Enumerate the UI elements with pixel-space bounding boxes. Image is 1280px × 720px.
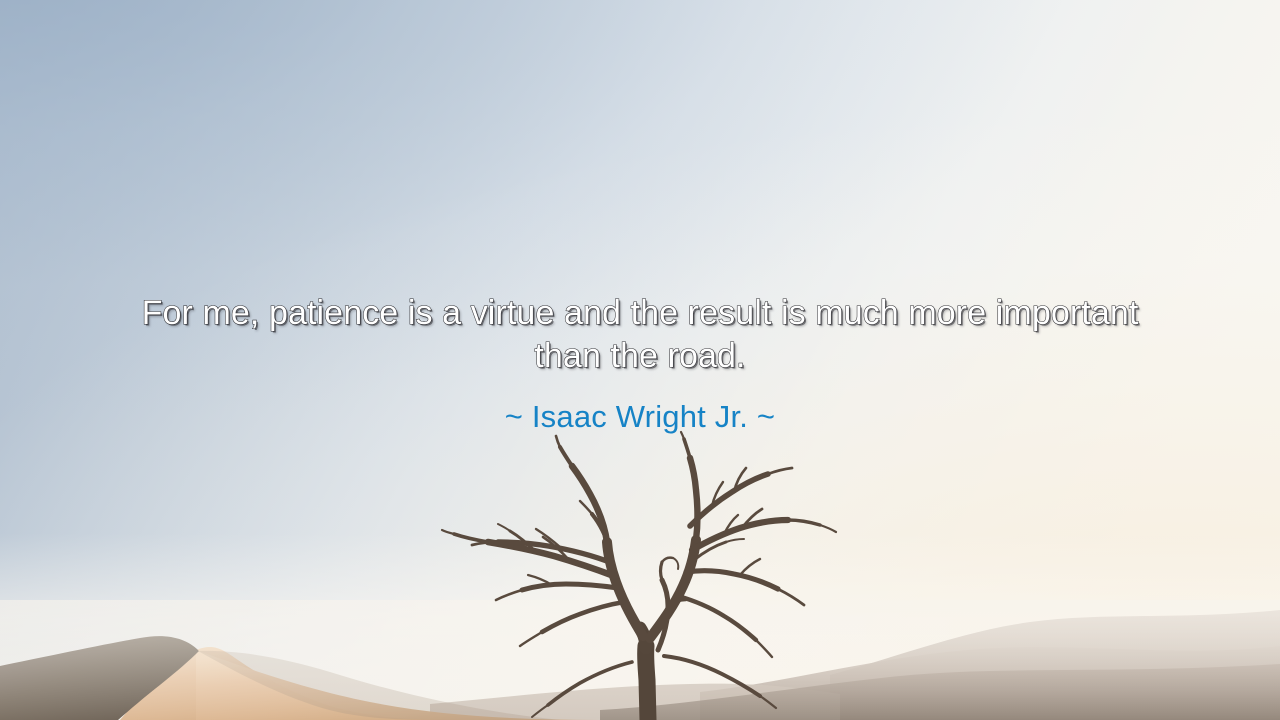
quote-overlay: For me, patience is a virtue and the res… [0,292,1280,435]
tree-branches [442,432,836,720]
quote-image-canvas: For me, patience is a virtue and the res… [0,0,1280,720]
dead-tree [440,430,860,720]
tree-trunk [646,646,648,720]
branch-right-main [650,540,696,638]
quote-author: ~ Isaac Wright Jr. ~ [0,399,1280,435]
quote-text: For me, patience is a virtue and the res… [135,292,1145,378]
